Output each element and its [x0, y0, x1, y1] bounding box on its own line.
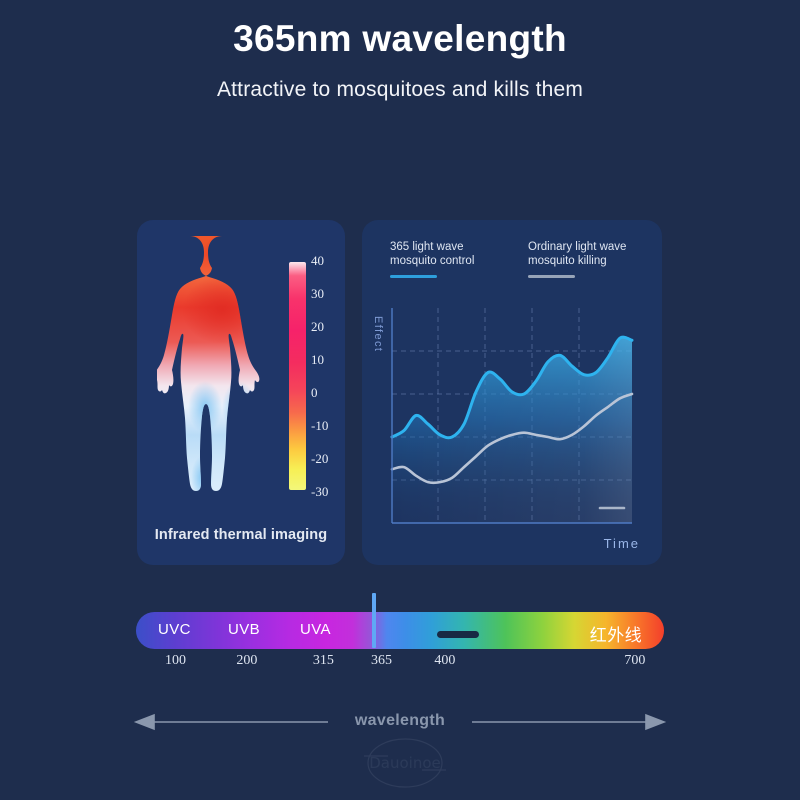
legend-item-365-light-wave: 365 light wave mosquito control: [390, 240, 474, 278]
thermal-tick: 10: [311, 352, 324, 368]
thermal-tick: -30: [311, 484, 328, 500]
wavelength-axis-label: wavelength: [0, 712, 800, 730]
thermal-scale: 40 30 20 10 0 -10 -20 -30: [289, 262, 339, 502]
legend-label: Ordinary light wave mosquito killing: [528, 240, 626, 268]
spectrum-gradient-bar[interactable]: UVC UVB UVA 红外线: [136, 612, 664, 649]
spectrum-band-uvb: UVB: [228, 621, 260, 638]
legend-swatch: [528, 275, 575, 278]
legend-swatch: [390, 275, 437, 278]
thermal-scale-ticks: 40 30 20 10 0 -10 -20 -30: [311, 253, 341, 499]
spectrum-band-uva: UVA: [300, 621, 331, 638]
thermal-tick: 30: [311, 286, 324, 302]
series-365-glow: [392, 337, 632, 523]
chart-legend: 365 light wave mosquito control Ordinary…: [390, 240, 640, 292]
thermal-tick: -20: [311, 451, 328, 467]
page-subtitle: Attractive to mosquitoes and kills them: [0, 78, 800, 102]
thermal-tick: 20: [311, 319, 324, 335]
chart-x-axis-label: Time: [604, 536, 640, 551]
spectrum-tick: 200: [236, 653, 257, 669]
human-body-thermal-icon: [157, 232, 287, 522]
spectrum-tick: 400: [434, 653, 455, 669]
spectrum-tick: 315: [313, 653, 334, 669]
header: 365nm wavelength Attractive to mosquitoe…: [0, 0, 800, 102]
thermal-panel-caption: Infrared thermal imaging: [137, 527, 345, 543]
chart-y-axis-label: Effect: [372, 316, 384, 352]
spectrum-tick: 100: [165, 653, 186, 669]
panels-row: 40 30 20 10 0 -10 -20 -30 Infrared therm…: [0, 220, 800, 565]
thermal-imaging-panel: 40 30 20 10 0 -10 -20 -30 Infrared therm…: [137, 220, 345, 565]
spectrum-tick: 365: [371, 653, 392, 669]
spectrum-marker-365: [372, 593, 376, 648]
brand-watermark: Dauoinoe: [350, 732, 460, 794]
spectrum-tick-labels: 100 200 315 365 400 700: [136, 653, 664, 675]
spectrum-section: UVC UVB UVA 红外线 100 200 315 365 400 700: [0, 590, 800, 690]
thermal-tick: 40: [311, 253, 324, 269]
svg-text:Dauoinoe: Dauoinoe: [369, 754, 441, 772]
spectrum-band-uvc: UVC: [158, 621, 191, 638]
chart-plot-area: [392, 308, 632, 523]
effect-chart-panel: 365 light wave mosquito control Ordinary…: [362, 220, 662, 565]
spectrum-tick: 700: [624, 653, 645, 669]
spectrum-band-infrared: 红外线: [590, 621, 642, 646]
thermal-colorbar: [289, 262, 306, 490]
legend-item-ordinary-light-wave: Ordinary light wave mosquito killing: [528, 240, 626, 278]
legend-label: 365 light wave mosquito control: [390, 240, 474, 268]
thermal-tick: -10: [311, 418, 328, 434]
spectrum-pill-marker: [437, 631, 479, 638]
thermal-tick: 0: [311, 385, 318, 401]
page-title: 365nm wavelength: [0, 16, 800, 62]
